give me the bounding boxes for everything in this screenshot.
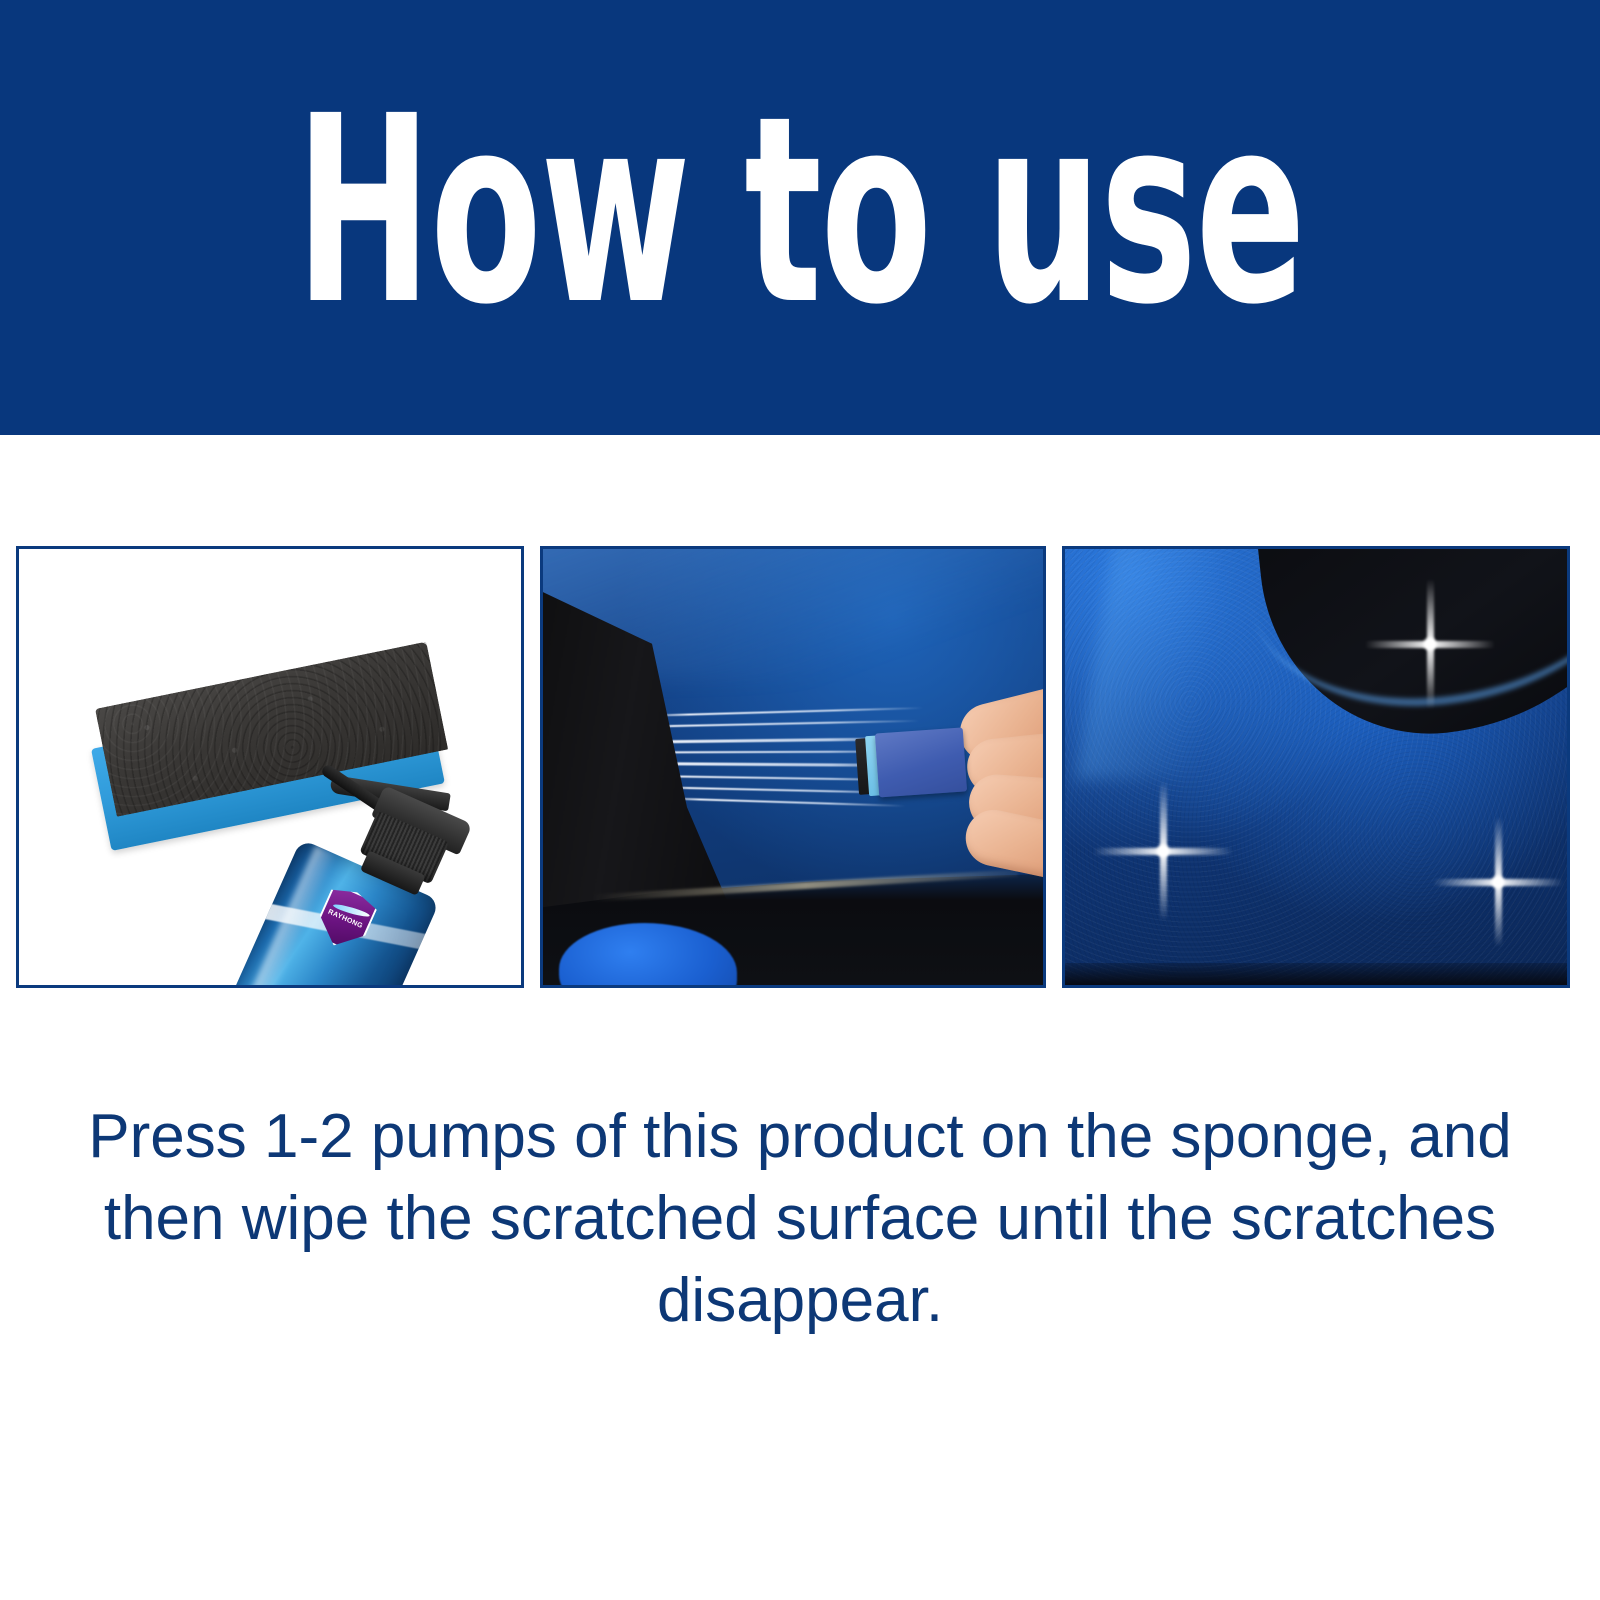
step-image-row: RAYHONG CAR SH & SW bbox=[16, 546, 1570, 988]
how-to-use-infographic: How to use RAYHONG CAR bbox=[0, 0, 1600, 1600]
bottle-label-line-1: CAR bbox=[214, 981, 381, 985]
instruction-caption: Press 1-2 pumps of this product on the s… bbox=[80, 1096, 1520, 1342]
sponge-body bbox=[875, 727, 967, 797]
sparkle-icon bbox=[1433, 817, 1563, 947]
bottom-shadow bbox=[1065, 963, 1567, 985]
step-image-3-restored-shine bbox=[1062, 546, 1570, 988]
sparkle-icon bbox=[1365, 579, 1495, 709]
step-image-1-applicator-and-bottle: RAYHONG CAR SH & SW bbox=[16, 546, 524, 988]
scratch-line bbox=[655, 797, 905, 807]
step-image-2-wiping-scratches bbox=[540, 546, 1046, 988]
scratch-line bbox=[637, 707, 923, 717]
applicator-sponge bbox=[859, 727, 967, 798]
sparkle-icon bbox=[1093, 781, 1233, 921]
page-title: How to use bbox=[240, 96, 1360, 326]
header-band: How to use bbox=[0, 0, 1600, 435]
